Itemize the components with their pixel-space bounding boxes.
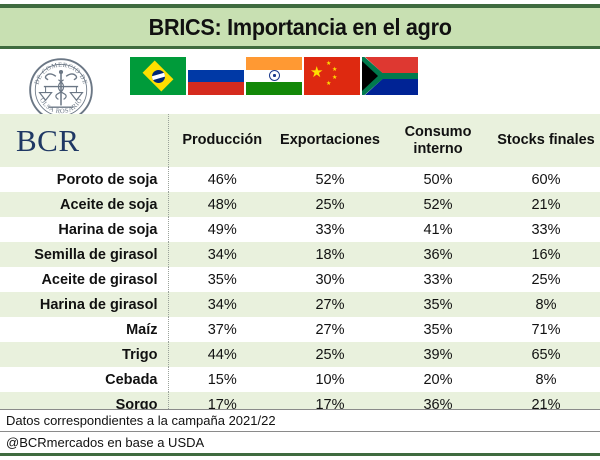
cell-consumo-interno: 36% <box>384 242 492 267</box>
cell-stocks-finales: 8% <box>492 292 600 317</box>
row-label: Aceite de girasol <box>0 267 168 292</box>
cell-exportaciones: 27% <box>276 292 384 317</box>
cell-produccion: 37% <box>168 317 276 342</box>
table-row: Semilla de girasol 34% 18% 36% 16% <box>0 242 600 267</box>
column-header-produccion: Producción <box>168 114 276 167</box>
row-label: Aceite de soja <box>0 192 168 217</box>
cell-produccion: 49% <box>168 217 276 242</box>
table-header: BCR Producción Exportaciones Consumo int… <box>0 114 600 167</box>
cell-consumo-interno: 35% <box>384 292 492 317</box>
cell-produccion: 48% <box>168 192 276 217</box>
russia-flag-icon <box>188 57 244 95</box>
row-label: Harina de girasol <box>0 292 168 317</box>
cell-produccion: 15% <box>168 367 276 392</box>
cell-exportaciones: 25% <box>276 342 384 367</box>
brazil-flag-icon <box>130 57 186 95</box>
cell-produccion: 34% <box>168 292 276 317</box>
cell-consumo-interno: 33% <box>384 267 492 292</box>
row-label: Harina de soja <box>0 217 168 242</box>
footnote-campaign: Datos correspondientes a la campaña 2021… <box>0 409 600 431</box>
cell-exportaciones: 10% <box>276 367 384 392</box>
cell-exportaciones: 25% <box>276 192 384 217</box>
table-row: Poroto de soja 46% 52% 50% 60% <box>0 167 600 192</box>
cell-stocks-finales: 33% <box>492 217 600 242</box>
india-flag-icon <box>246 57 302 95</box>
row-label: Semilla de girasol <box>0 242 168 267</box>
brand-strip: DE COMERCIO DE OLSA ROSARIO ★ ★ <box>0 52 600 114</box>
cell-stocks-finales: 16% <box>492 242 600 267</box>
cell-stocks-finales: 8% <box>492 367 600 392</box>
cell-consumo-interno: 35% <box>384 317 492 342</box>
cell-exportaciones: 18% <box>276 242 384 267</box>
brics-flags-row: ★ ★ ★ ★ ★ <box>130 57 418 95</box>
table-row: Aceite de soja 48% 25% 52% 21% <box>0 192 600 217</box>
table-row: Maíz 37% 27% 35% 71% <box>0 317 600 342</box>
cell-stocks-finales: 65% <box>492 342 600 367</box>
brics-share-table: BCR Producción Exportaciones Consumo int… <box>0 114 600 417</box>
data-table-wrapper: BCR Producción Exportaciones Consumo int… <box>0 114 600 417</box>
footnotes: Datos correspondientes a la campaña 2021… <box>0 409 600 456</box>
row-label: Trigo <box>0 342 168 367</box>
cell-produccion: 44% <box>168 342 276 367</box>
cell-consumo-interno: 39% <box>384 342 492 367</box>
cell-exportaciones: 52% <box>276 167 384 192</box>
brics-agro-infographic: BRICS: Importancia en el agro <box>0 0 600 460</box>
cell-stocks-finales: 71% <box>492 317 600 342</box>
bcr-wordmark: BCR <box>0 114 168 167</box>
cell-produccion: 35% <box>168 267 276 292</box>
china-flag-icon: ★ ★ ★ ★ ★ <box>304 57 360 95</box>
table-row: Aceite de girasol 35% 30% 33% 25% <box>0 267 600 292</box>
cell-exportaciones: 30% <box>276 267 384 292</box>
cell-stocks-finales: 25% <box>492 267 600 292</box>
column-header-consumo-line1: Consumo <box>405 124 472 140</box>
table-row: Trigo 44% 25% 39% 65% <box>0 342 600 367</box>
row-label: Poroto de soja <box>0 167 168 192</box>
cell-exportaciones: 27% <box>276 317 384 342</box>
row-label: Maíz <box>0 317 168 342</box>
row-label: Cebada <box>0 367 168 392</box>
cell-consumo-interno: 41% <box>384 217 492 242</box>
cell-produccion: 46% <box>168 167 276 192</box>
cell-stocks-finales: 21% <box>492 192 600 217</box>
cell-consumo-interno: 20% <box>384 367 492 392</box>
column-header-stocks-finales: Stocks finales <box>492 114 600 167</box>
table-row: Harina de girasol 34% 27% 35% 8% <box>0 292 600 317</box>
table-header-row: BCR Producción Exportaciones Consumo int… <box>0 114 600 167</box>
column-header-exportaciones: Exportaciones <box>276 114 384 167</box>
cell-produccion: 34% <box>168 242 276 267</box>
cell-consumo-interno: 50% <box>384 167 492 192</box>
table-row: Cebada 15% 10% 20% 8% <box>0 367 600 392</box>
south-africa-flag-icon <box>362 57 418 95</box>
table-body: Poroto de soja 46% 52% 50% 60% Aceite de… <box>0 167 600 417</box>
footnote-source: @BCRmercados en base a USDA <box>0 431 600 453</box>
table-row: Harina de soja 49% 33% 41% 33% <box>0 217 600 242</box>
cell-consumo-interno: 52% <box>384 192 492 217</box>
page-title: BRICS: Importancia en el agro <box>149 14 452 41</box>
column-header-consumo-interno: Consumo interno <box>384 114 492 167</box>
title-banner: BRICS: Importancia en el agro <box>0 4 600 49</box>
cell-stocks-finales: 60% <box>492 167 600 192</box>
column-header-consumo-line2: interno <box>413 141 462 157</box>
cell-exportaciones: 33% <box>276 217 384 242</box>
